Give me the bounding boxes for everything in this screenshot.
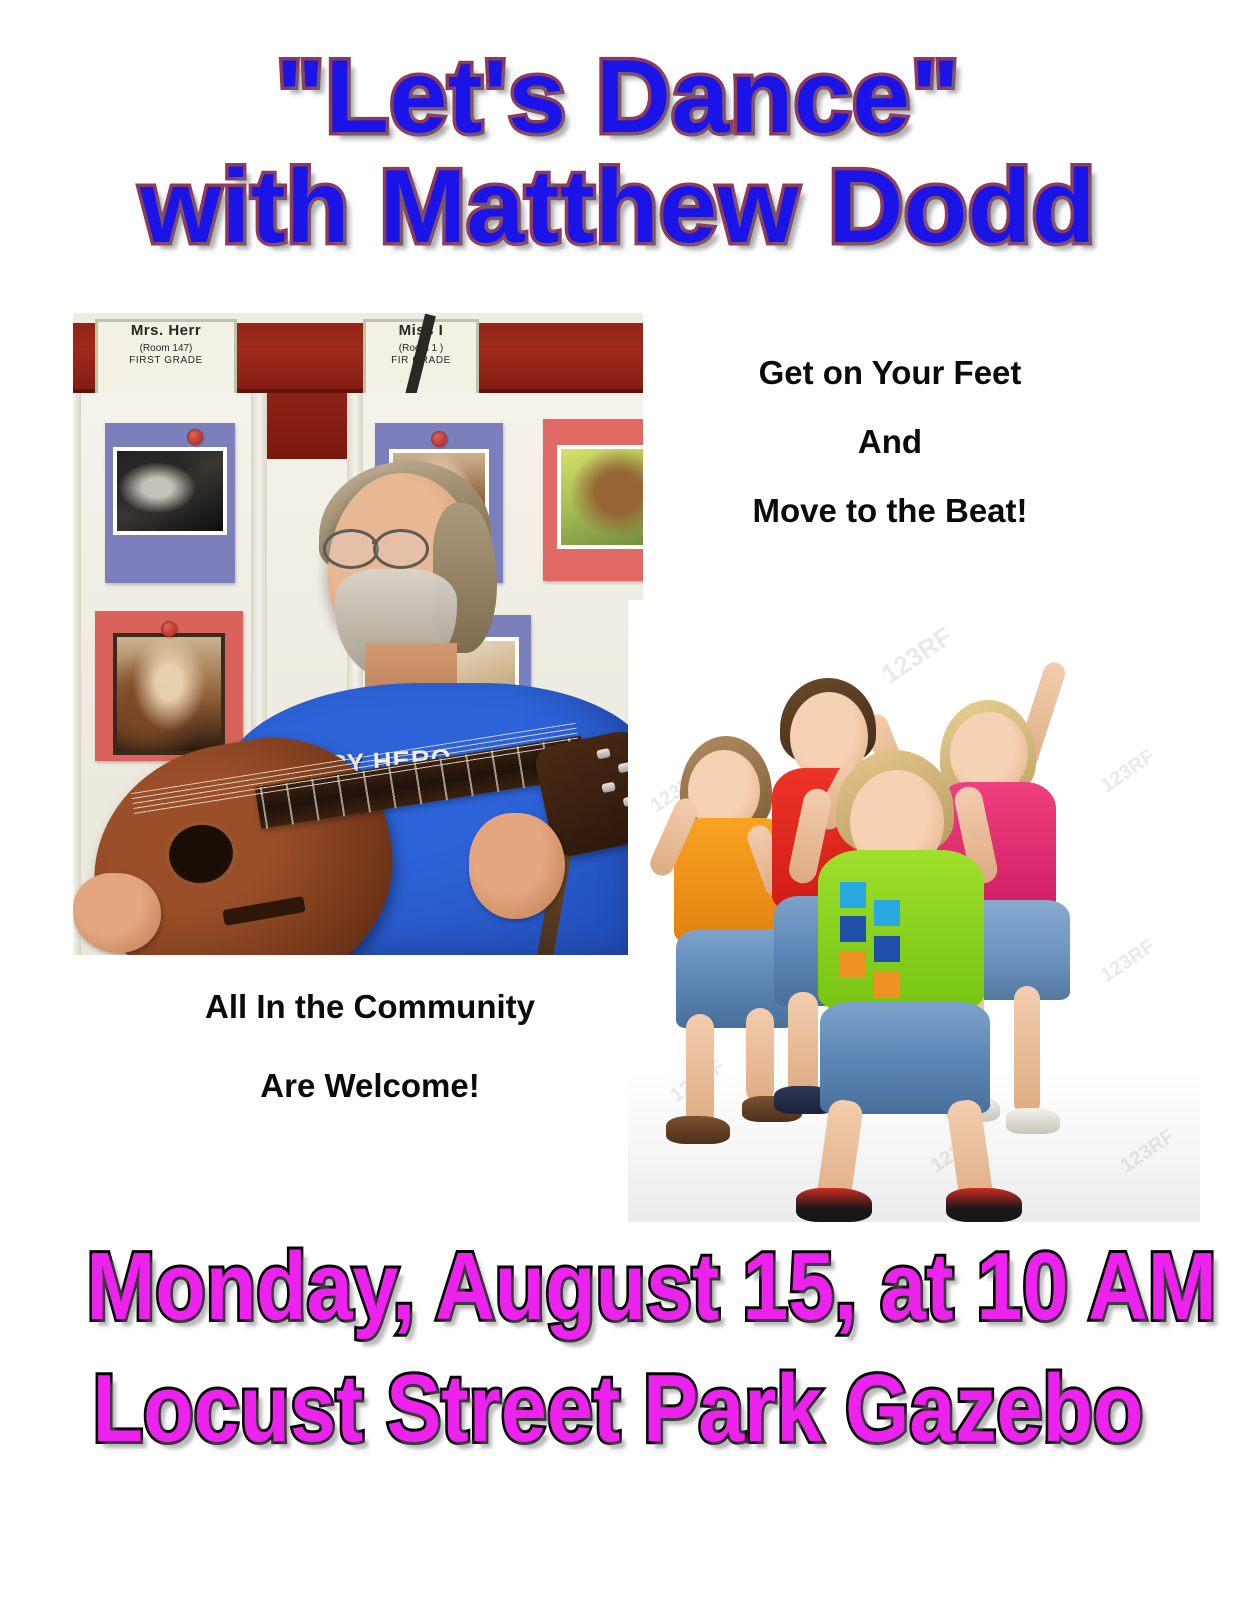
placard-teacher-name: Mrs. Herr bbox=[98, 322, 234, 341]
child-shorts bbox=[820, 1002, 990, 1114]
pushpin-icon bbox=[187, 429, 203, 445]
board-seam-edge bbox=[73, 393, 81, 955]
child-leg bbox=[686, 1014, 714, 1128]
eyeglasses-left-lens bbox=[323, 529, 379, 569]
eyeglasses-right-lens bbox=[373, 529, 429, 569]
event-datetime: Monday, August 15, at 10 AM bbox=[87, 1232, 1150, 1342]
shirt-square-icon bbox=[840, 916, 866, 942]
message-left-line1: All In the Community bbox=[60, 990, 680, 1023]
message-right: Get on Your Feet And Move to the Beat! bbox=[640, 356, 1140, 563]
child-leg bbox=[746, 1008, 774, 1104]
child-sandal bbox=[1006, 1108, 1060, 1134]
page-title: "Let's Dance" with Matthew Dodd bbox=[0, 44, 1236, 260]
man-fretting-hand bbox=[469, 813, 565, 919]
photo-guitarist: Mrs. Herr (Room 147) FIRST GRADE Miss I … bbox=[73, 313, 643, 955]
artwork-mat-blue-1 bbox=[105, 423, 235, 583]
child-sandal bbox=[946, 1188, 1022, 1222]
watermark: 123RF bbox=[876, 621, 958, 690]
guitar-tuner bbox=[596, 748, 611, 760]
event-details: Monday, August 15, at 10 AM Locust Stree… bbox=[0, 1232, 1236, 1465]
man-strumming-hand bbox=[73, 873, 161, 953]
shirt-square-icon bbox=[840, 952, 866, 978]
artwork-sepia-1 bbox=[117, 637, 221, 751]
placard-room: (Room 147) bbox=[98, 343, 234, 356]
artwork-green bbox=[561, 449, 643, 545]
photo-dancing-kids: 123RF 123RF 123RF 123RF 123RF 123RF 123R… bbox=[628, 600, 1200, 1222]
message-left-line2: Are Welcome! bbox=[60, 1069, 680, 1102]
artwork-mat-red-1 bbox=[95, 611, 243, 761]
eyeglasses-bridge bbox=[372, 541, 378, 544]
placard-grade: FIRST GRADE bbox=[98, 355, 234, 368]
child-leg bbox=[788, 992, 818, 1098]
shirt-square-icon bbox=[874, 972, 900, 998]
pushpin-icon bbox=[431, 431, 447, 447]
message-right-line2: And bbox=[640, 425, 1140, 458]
wall-gap bbox=[255, 393, 351, 459]
artwork-mat-red-2 bbox=[543, 419, 643, 581]
watermark: 123RF bbox=[1097, 745, 1160, 798]
event-location: Locust Street Park Gazebo bbox=[87, 1354, 1150, 1464]
message-left: All In the Community Are Welcome! bbox=[60, 990, 680, 1148]
flyer-poster: "Let's Dance" with Matthew Dodd Mrs. Her… bbox=[0, 0, 1236, 1600]
pushpin-icon bbox=[161, 621, 177, 637]
title-line-1: "Let's Dance" bbox=[0, 44, 1236, 150]
shirt-square-icon bbox=[840, 882, 866, 908]
watermark: 123RF bbox=[1097, 935, 1160, 988]
child-leg bbox=[1014, 986, 1040, 1116]
classroom-placard-herr: Mrs. Herr (Room 147) FIRST GRADE bbox=[95, 319, 237, 403]
guitar-tuner bbox=[601, 782, 616, 794]
message-right-line1: Get on Your Feet bbox=[640, 356, 1140, 389]
title-line-2: with Matthew Dodd bbox=[0, 154, 1236, 260]
child-sandal bbox=[796, 1188, 872, 1222]
shirt-square-icon bbox=[874, 936, 900, 962]
artwork-bw-guitarist bbox=[117, 451, 223, 531]
message-right-line3: Move to the Beat! bbox=[640, 494, 1140, 527]
shirt-square-icon bbox=[874, 900, 900, 926]
